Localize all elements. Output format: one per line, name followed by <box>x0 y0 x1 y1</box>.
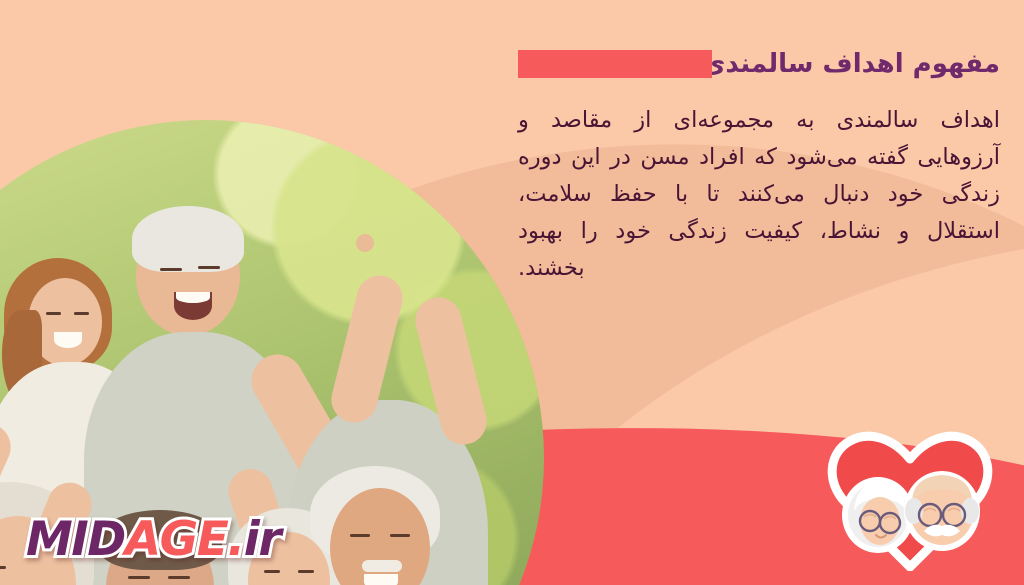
banner: مفهوم اهداف سالمندی اهداف سالمندی به مجم… <box>0 0 1024 585</box>
logo-part-age: AGE. <box>125 512 244 567</box>
text-column: مفهوم اهداف سالمندی اهداف سالمندی به مجم… <box>504 0 1024 287</box>
title-row: مفهوم اهداف سالمندی <box>518 40 1000 88</box>
elderly-couple-in-heart-icon <box>820 419 1000 571</box>
site-logo[interactable]: MIDAGE.ir <box>26 516 280 563</box>
logo-part-ir: ir <box>244 512 280 567</box>
page-title: مفهوم اهداف سالمندی <box>702 49 1001 79</box>
title-accent-bar <box>518 50 712 78</box>
logo-part-mid: MID <box>26 512 125 567</box>
body-paragraph: اهداف سالمندی به مجموعه‌ای از مقاصد و آر… <box>518 102 1000 287</box>
